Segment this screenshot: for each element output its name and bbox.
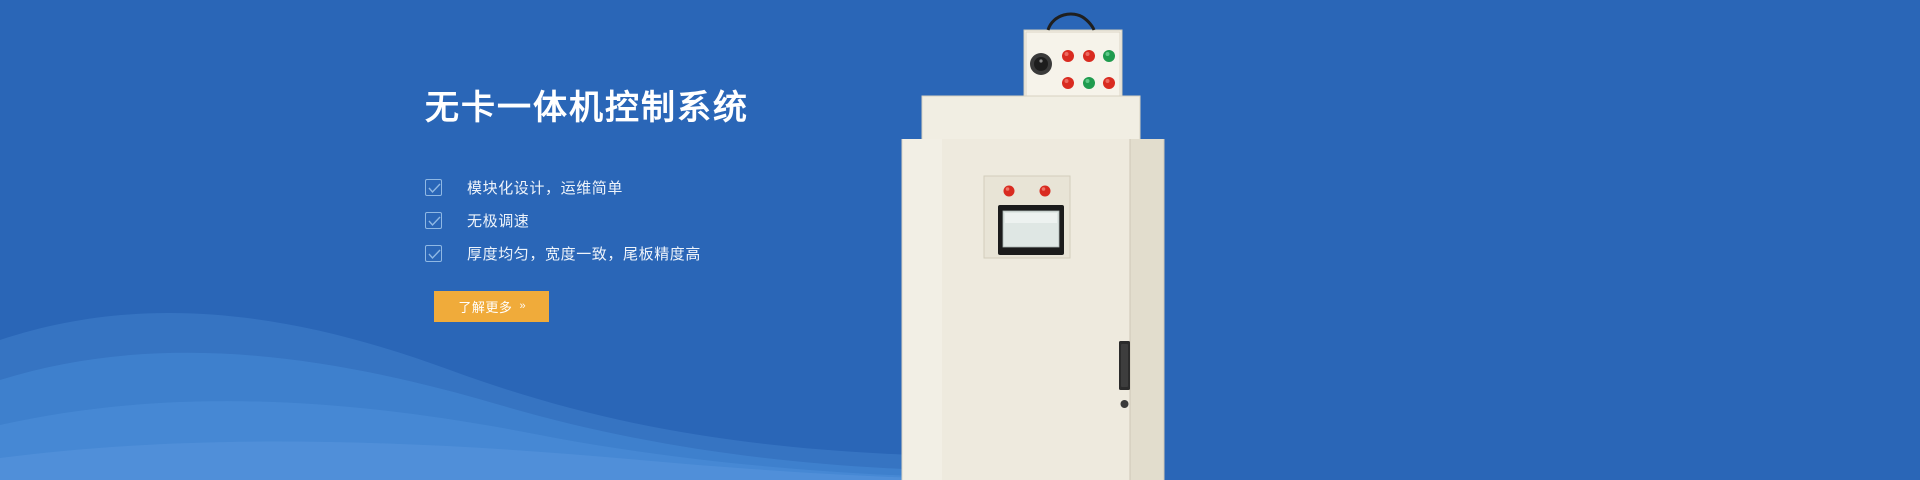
check-square-icon [425,245,442,262]
feature-label: 模块化设计，运维简单 [467,177,623,198]
chevron-right-icon: » [519,300,524,312]
check-square-icon [425,179,442,196]
hero-banner: 无卡一体机控制系统 模块化设计，运维简单 无极调速 [0,0,1920,480]
check-square-icon [425,212,442,229]
hmi-panel [984,176,1070,258]
learn-more-button[interactable]: 了解更多 » [434,291,549,322]
control-cabinet-photo [898,0,1188,480]
feature-label: 厚度均匀，宽度一致，尾板精度高 [467,243,701,264]
learn-more-label: 了解更多 [458,297,512,316]
top-control-panel [1024,14,1122,102]
cabinet-top-cap [922,96,1140,142]
feature-label: 无极调速 [467,210,529,231]
